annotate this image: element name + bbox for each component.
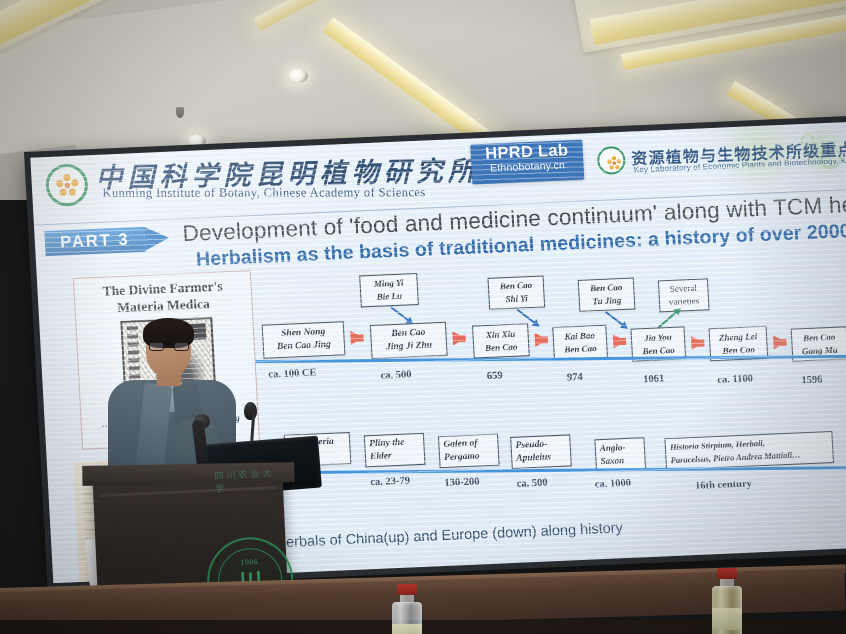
institute-name-en: Kunming Institute of Botany, Chinese Aca… (102, 185, 425, 201)
flow-arrow-icon (773, 335, 787, 350)
part-banner: PART 3 (44, 226, 169, 256)
timeline-date: 1061 (643, 373, 665, 385)
timeline-node: Ben Cao Jing Ji Zhu (370, 322, 448, 359)
timeline-date: 1596 (801, 374, 823, 386)
branch-node: Ben Cao Tu Jing (578, 278, 636, 312)
branch-arrow (658, 311, 677, 328)
keylab-logo-icon (597, 146, 626, 175)
kib-logo-icon (45, 163, 89, 207)
timeline-node: Galen of Pergamo (438, 434, 500, 469)
timeline-axis (276, 466, 846, 474)
branch-node: Ben Cao Shi Yi (487, 275, 545, 309)
branch-node: Several varieties (658, 278, 710, 312)
flow-arrow-icon (350, 330, 364, 345)
timeline-date: ca. 100 CE (268, 367, 317, 380)
hprd-lab-badge: HPRD Lab Ethnobotany.cn (470, 140, 584, 185)
timeline-node: Pliny the Elder (364, 433, 426, 468)
timeline-date: ca. 1100 (717, 373, 753, 386)
timeline-node: Anglo- Saxon (594, 437, 646, 471)
branch-arrow (605, 311, 624, 326)
microphone-stand-head-icon (244, 402, 257, 420)
eyeglasses-icon (149, 342, 189, 351)
timeline-date: 130-200 (444, 476, 480, 489)
timeline-node: Shen Nong Ben Cao Jing (262, 321, 346, 359)
timeline-date: 16th century (695, 479, 752, 492)
lecture-hall-photo: 中国科学院昆明植物研究所 Kunming Institute of Botany… (0, 0, 846, 634)
sprinkler-icon (176, 107, 184, 118)
timeline-date: ca. 23-79 (370, 475, 410, 488)
flow-arrow-icon (535, 332, 549, 347)
timeline-node: Historia Stirpium, Herball, Paracelsus, … (664, 431, 834, 470)
timeline-date: ca. 500 (516, 477, 547, 489)
branch-arrow (390, 306, 409, 321)
timeline-node: Xin Xiu Ben Cao (472, 323, 530, 358)
flow-arrow-icon (613, 334, 627, 349)
timeline-node: Pseudo- Apuleius (510, 434, 572, 469)
downlight-icon (288, 69, 308, 83)
branch-node: Ming Yi Bie Lu (359, 273, 419, 307)
timeline-date: 659 (487, 370, 503, 382)
podium-text-cn: 四川农业大学 (214, 466, 283, 495)
part-label: PART 3 (44, 227, 145, 256)
timeline-node: Kai Bao Ben Cao (552, 325, 608, 360)
flow-arrow-icon (691, 336, 705, 351)
branch-arrow (517, 309, 536, 324)
timeline-date: ca. 1000 (595, 478, 632, 491)
timeline-date: 974 (567, 372, 583, 384)
timeline-date: ca. 500 (380, 369, 411, 381)
flow-arrow-icon (452, 331, 466, 346)
